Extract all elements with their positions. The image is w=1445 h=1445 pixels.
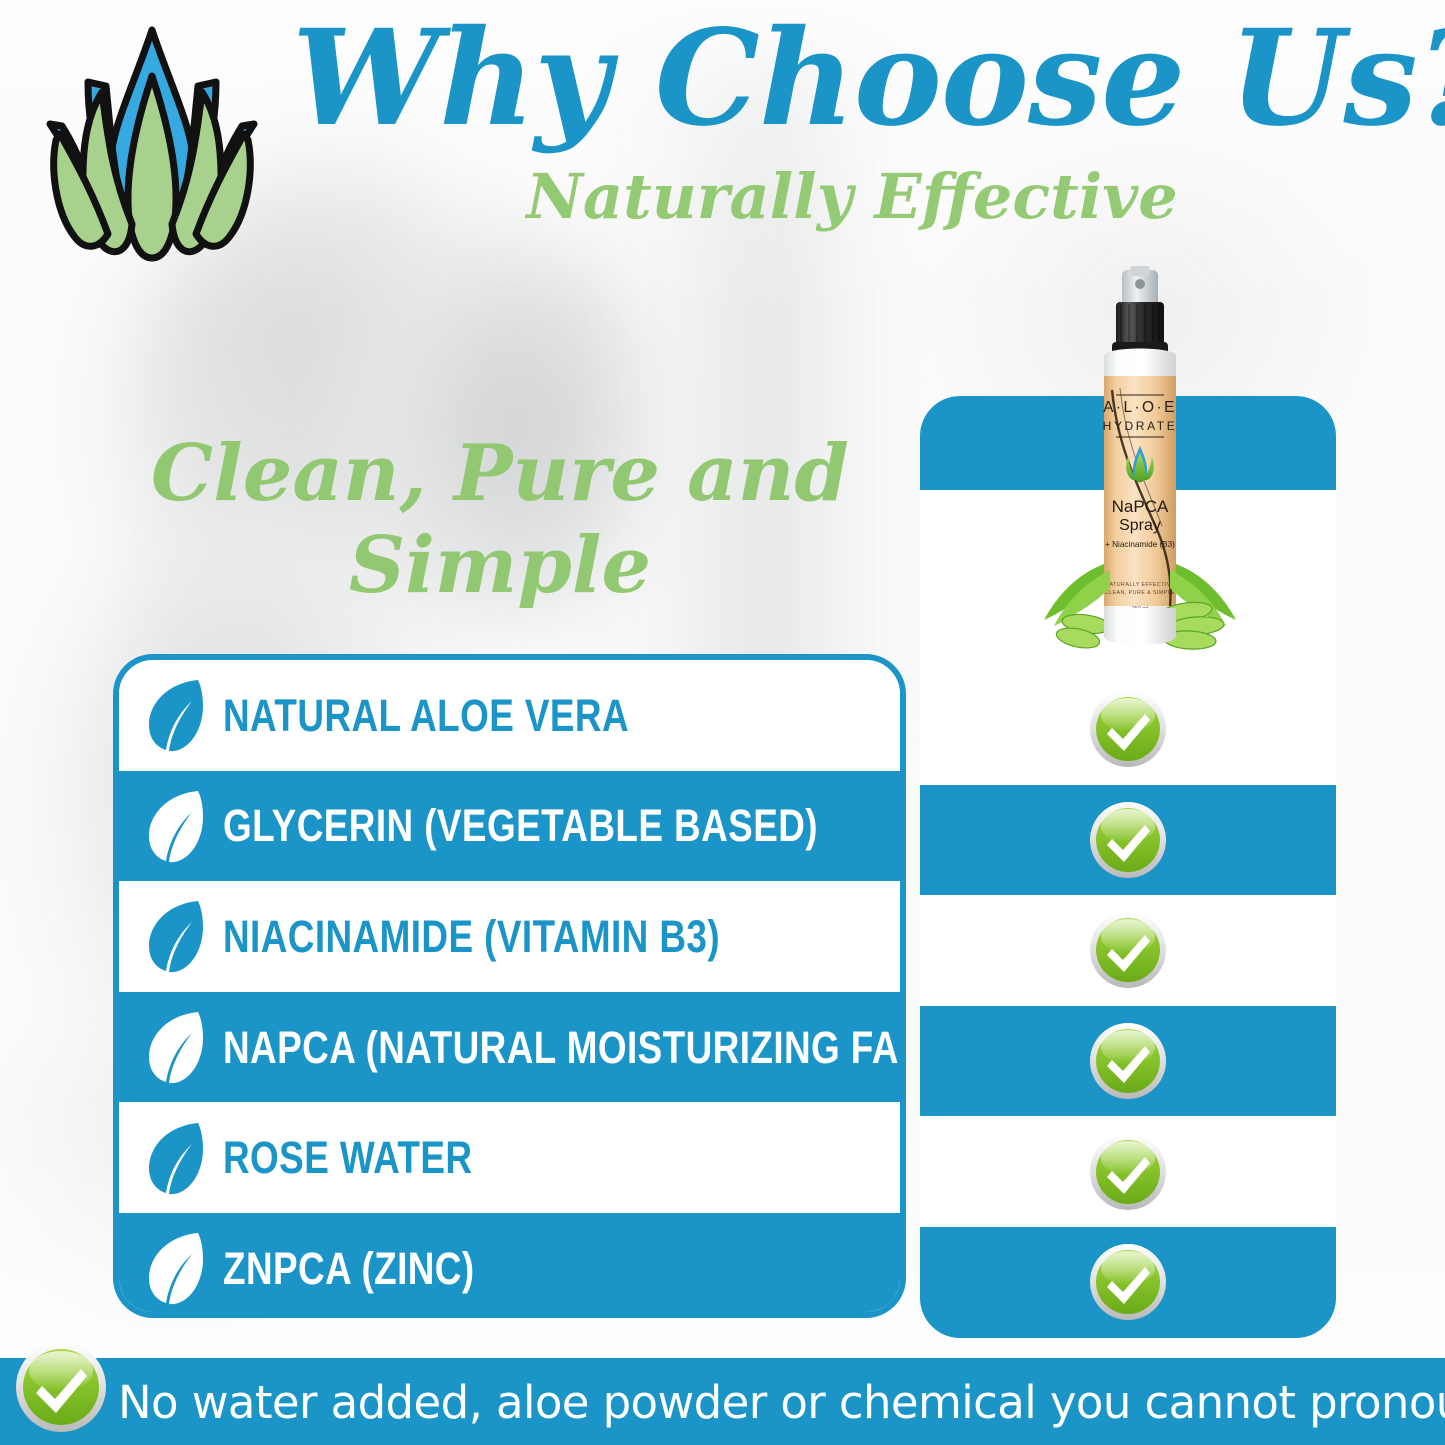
ingredient-label: ROSE WATER	[223, 1135, 472, 1180]
list-item: NATURAL ALOE VERA	[119, 660, 900, 771]
leaf-icon	[145, 787, 207, 865]
leaf-icon	[145, 897, 207, 975]
panel-product-area	[920, 490, 1336, 674]
aloe-plant-logo-icon	[36, 20, 268, 268]
list-item: GLYCERIN (VEGETABLE BASED)	[119, 771, 900, 882]
list-item: ZNPCA (ZINC)	[119, 1213, 900, 1318]
check-row	[920, 674, 1336, 785]
green-check-icon	[1088, 1242, 1168, 1322]
ingredient-label: NIACINAMIDE (VITAMIN B3)	[223, 914, 720, 959]
why-choose-us-infographic: Why Choose Us? Naturally Effective Clean…	[0, 0, 1445, 1445]
check-row	[920, 785, 1336, 896]
green-check-icon	[1088, 1021, 1168, 1101]
ingredient-label: GLYCERIN (VEGETABLE BASED)	[223, 803, 818, 848]
check-row	[920, 895, 1336, 1006]
check-row	[920, 1116, 1336, 1227]
leaf-icon	[145, 676, 207, 754]
ingredient-label: NATURAL ALOE VERA	[223, 693, 629, 738]
list-item: ROSE WATER	[119, 1102, 900, 1213]
heading-line-1: Clean, Pure and	[120, 428, 880, 520]
check-row	[920, 1227, 1336, 1338]
list-item: NIACINAMIDE (VITAMIN B3)	[119, 881, 900, 992]
leaf-icon	[145, 1008, 207, 1086]
ingredients-card: NATURAL ALOE VERA GLYCERIN (VEGETABLE BA…	[113, 654, 906, 1318]
clean-pure-simple-heading: Clean, Pure and Simple	[120, 428, 880, 612]
leaf-icon	[145, 1119, 207, 1197]
green-check-icon	[1088, 910, 1168, 990]
checkmarks-panel	[920, 396, 1336, 1338]
ingredient-label: NAPCA (NATURAL MOISTURIZING FACTOR)	[223, 1025, 906, 1070]
footer-claim-text: No water added, aloe powder or chemical …	[118, 1362, 1445, 1442]
green-check-icon	[1088, 800, 1168, 880]
green-check-icon	[14, 1340, 108, 1434]
green-check-icon	[1088, 1132, 1168, 1212]
green-check-icon	[1088, 689, 1168, 769]
check-row	[920, 1006, 1336, 1117]
page-title: Why Choose Us?	[292, 8, 1412, 151]
panel-header-band	[920, 396, 1336, 490]
page-subtitle: Naturally Effective	[292, 160, 1412, 233]
ingredient-label: ZNPCA (ZINC)	[223, 1246, 475, 1291]
heading-line-2: Simple	[120, 520, 880, 612]
list-item: NAPCA (NATURAL MOISTURIZING FACTOR)	[119, 992, 900, 1103]
leaf-icon	[145, 1229, 207, 1307]
